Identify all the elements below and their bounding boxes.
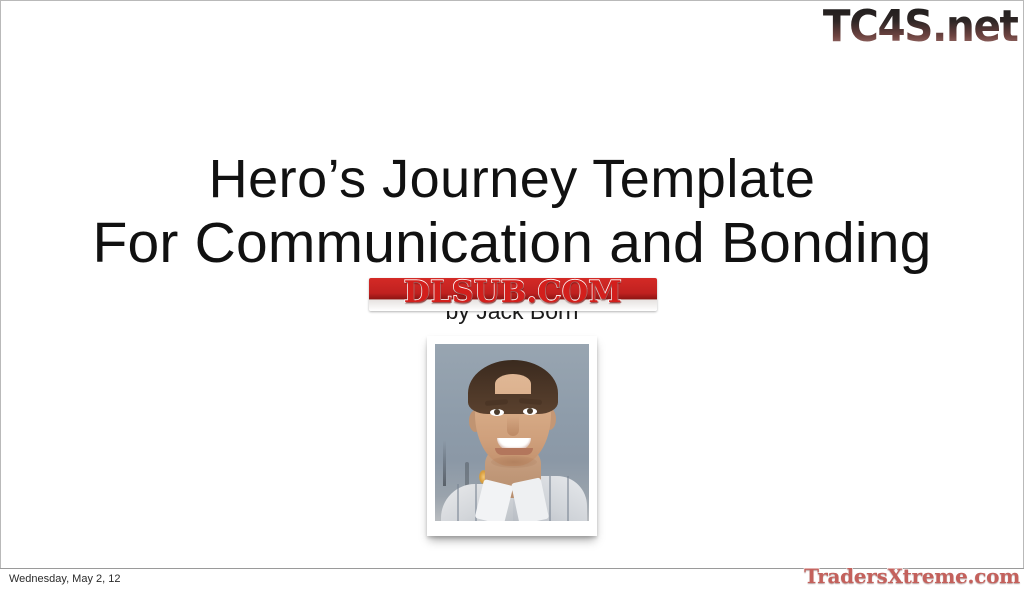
portrait-chin-shadow [491,456,537,468]
presentation-slide: TC4S.net TC4S.net Hero’s Journey Templat… [0,0,1024,592]
title-line-2: For Communication and Bonding [0,210,1024,276]
photo-background-pole [443,440,446,486]
portrait-nose [507,416,519,436]
tradersxtreme-watermark: TradersXtreme.com [804,564,1020,589]
portrait-pupil-left [494,409,500,415]
portrait-lower-lip [495,448,533,455]
title-line-1: Hero’s Journey Template [0,148,1024,210]
tc4s-watermark: TC4S.net [823,2,1018,52]
portrait-hairline [495,374,531,394]
dlsub-watermark: DLSUB.COM [369,278,657,311]
footer-date: Wednesday, May 2, 12 [9,572,121,586]
photo-frame [427,336,597,536]
slide-title: Hero’s Journey Template For Communicatio… [0,148,1024,276]
headshot-photo [435,344,589,521]
dlsub-watermark-text: DLSUB.COM [369,278,657,309]
portrait-pupil-right [527,408,533,414]
